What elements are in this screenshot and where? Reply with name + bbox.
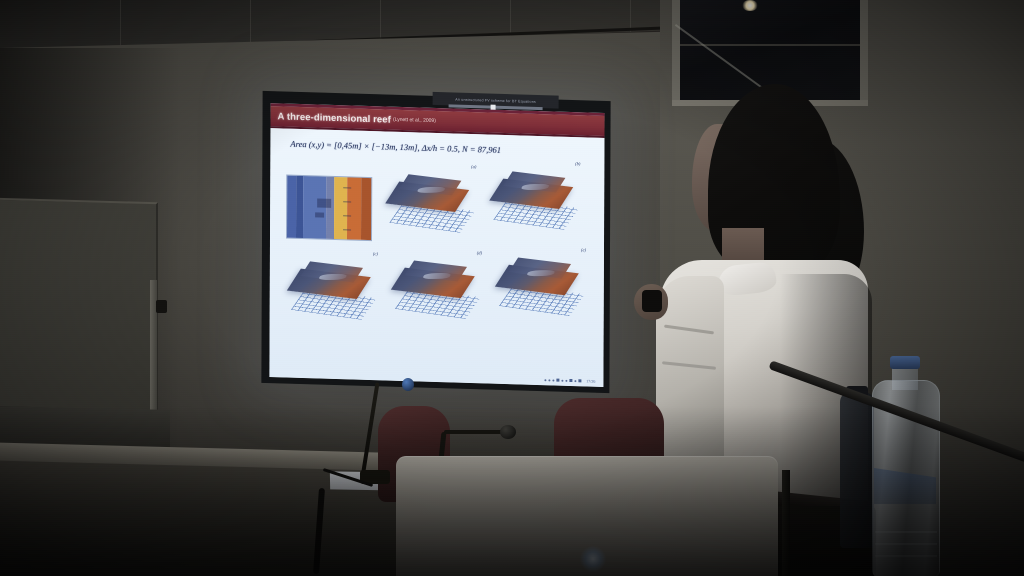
reef-surface-plot bbox=[388, 168, 476, 243]
slide-body: Area (x,y) = [0,45m] × [−13m, 13m], Δx/h… bbox=[269, 128, 604, 387]
slide-page-number: 17/26 bbox=[586, 378, 595, 383]
gooseneck-mic-right-head bbox=[500, 425, 516, 439]
bathymetry-colormap bbox=[286, 175, 372, 242]
projection-screen: An unstructured FV scheme for BT Equatio… bbox=[261, 91, 610, 393]
slide-figure-grid: (a) (b) bbox=[279, 158, 598, 366]
water-bottle bbox=[872, 356, 938, 576]
panel-label-c: (c) bbox=[373, 251, 378, 256]
reef-surface-plot bbox=[492, 165, 580, 240]
gooseneck-mic-left-head bbox=[402, 378, 414, 391]
figure-panel-c: (c) bbox=[286, 247, 382, 336]
figure-panel-d: (d) bbox=[390, 246, 486, 335]
whiteboard-knob bbox=[156, 300, 167, 313]
panel-label-a: (a) bbox=[471, 164, 476, 169]
reef-surface-plot bbox=[498, 251, 586, 326]
laptop-logo-icon bbox=[580, 546, 606, 572]
microphone-stand bbox=[782, 470, 790, 576]
figure-panel-bathymetry bbox=[280, 162, 376, 251]
figure-panel-a: (a) bbox=[384, 159, 480, 248]
slide-citation: (Lynett et al., 2009) bbox=[393, 117, 436, 124]
reef-surface-plot bbox=[290, 255, 378, 330]
slide-page-indicator: 17/26 bbox=[544, 377, 595, 384]
whiteboard bbox=[0, 198, 158, 423]
panel-label-d: (d) bbox=[477, 250, 482, 255]
figure-panel-e: (e) bbox=[494, 243, 590, 332]
lecture-room-photo: An unstructured FV scheme for BT Equatio… bbox=[0, 0, 1024, 576]
presentation-clicker bbox=[642, 290, 662, 312]
slide-title: A three-dimensional reef bbox=[271, 111, 391, 126]
panel-label-b: (b) bbox=[575, 161, 580, 166]
slide-header-text: An unstructured FV scheme for BT Equatio… bbox=[455, 97, 536, 103]
reef-surface-plot bbox=[394, 254, 482, 329]
panel-label-e: (e) bbox=[581, 247, 586, 252]
dark-bottle bbox=[840, 392, 874, 548]
slide-surface: A three-dimensional reef (Lynett et al.,… bbox=[269, 103, 604, 387]
bottle-cap bbox=[890, 356, 920, 369]
ceiling-light-reflection bbox=[742, 0, 758, 11]
slide-formula: Area (x,y) = [0,45m] × [−13m, 13m], Δx/h… bbox=[290, 139, 501, 155]
figure-panel-b: (b) bbox=[488, 157, 584, 246]
colorbar-ticks bbox=[341, 181, 351, 235]
